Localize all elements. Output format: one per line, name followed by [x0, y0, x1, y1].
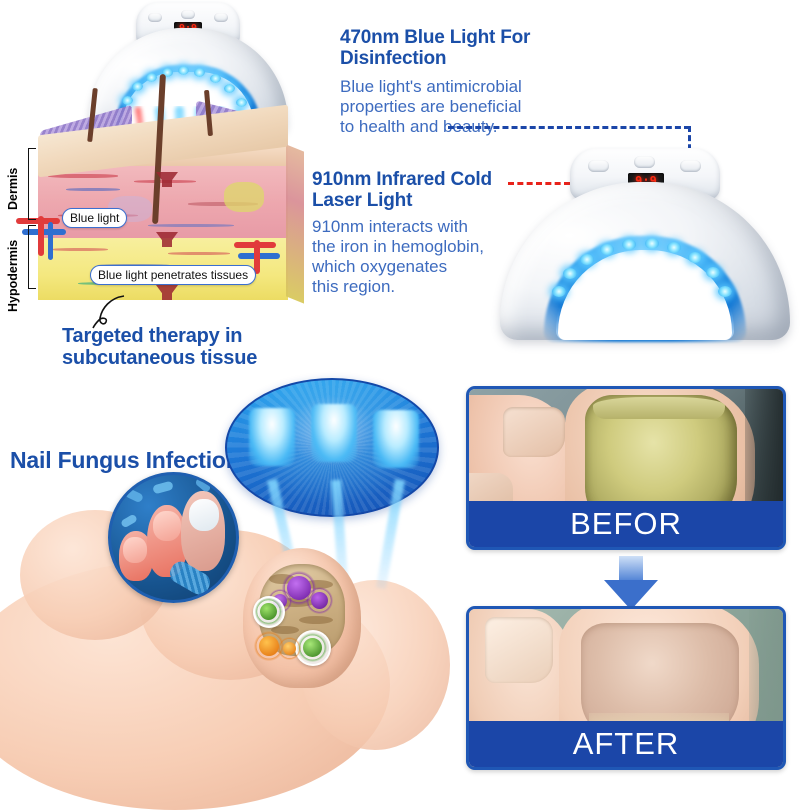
- microbe-dish-green: [253, 596, 285, 628]
- infected-toenail-closeup: [243, 548, 361, 688]
- penetration-arrow: [156, 232, 178, 247]
- connector-blue-horizontal: [448, 126, 690, 129]
- nail-fungus-infection-title: Nail Fungus Infection: [10, 448, 240, 473]
- microbe-purple: [311, 592, 328, 609]
- after-label: AFTER: [469, 721, 783, 767]
- callout-blue-light: Blue light: [62, 208, 127, 228]
- penetration-arrow: [156, 172, 178, 187]
- penetration-arrow: [156, 285, 178, 300]
- device-illustration-right: 9:9: [500, 148, 790, 348]
- skin-diagram-caption: Targeted therapy in subcutaneous tissue: [62, 326, 312, 369]
- bracket-hypodermis: [28, 225, 36, 289]
- infected-toes-inset: [108, 472, 239, 603]
- callout-blue-light-penetrates: Blue light penetrates tissues: [90, 265, 256, 285]
- after-photo-panel: AFTER: [466, 606, 786, 770]
- feature-blue-title: 470nm Blue Light For Disinfection: [340, 28, 590, 69]
- product-infographic: 9:9: [0, 0, 800, 800]
- skin-cross-section-diagram: Dermis Hypodermis Blue light Blue light …: [0, 0, 320, 330]
- bracket-dermis: [28, 148, 36, 220]
- microbe-orange: [259, 636, 279, 656]
- before-photo-panel: BEFOR: [466, 386, 786, 550]
- device-button-start[interactable]: [680, 160, 701, 172]
- microbe-orange: [283, 642, 296, 655]
- feature-block-blue-light: 470nm Blue Light For Disinfection Blue l…: [340, 28, 590, 137]
- device-arch: [500, 182, 790, 342]
- transition-arrow-icon: [604, 556, 658, 610]
- label-dermis: Dermis: [6, 148, 20, 210]
- device-button-time[interactable]: [634, 156, 655, 168]
- before-label: BEFOR: [469, 501, 783, 547]
- device-button-mode[interactable]: [588, 160, 609, 172]
- label-hypodermis: Hypodermis: [6, 222, 20, 312]
